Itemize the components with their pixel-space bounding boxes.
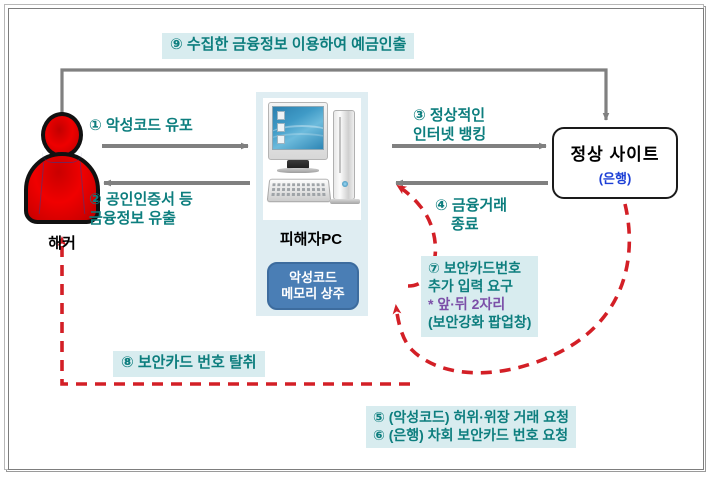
desktop-icon-2 xyxy=(277,123,285,132)
tower-foot xyxy=(330,199,360,204)
keyboard-row-2 xyxy=(272,188,326,191)
step-7-line-1: ⑦ 보안카드번호 xyxy=(428,260,531,278)
monitor-icon xyxy=(268,102,328,160)
step-6-line: ⑥ (은행) 차회 보안카드 번호 요청 xyxy=(373,427,569,445)
step-3-line-1: ③ 정상적인 xyxy=(413,107,486,126)
step-4-line-2: 종료 xyxy=(435,216,507,235)
step-4-line-1: ④ 금융거래 xyxy=(435,197,507,216)
step-9-label: ⑨ 수집한 금융정보 이용하여 예금인출 xyxy=(162,33,414,59)
step-3-line-2: 인터넷 뱅킹 xyxy=(413,126,486,145)
step-7-label: ⑦ 보안카드번호 추가 입력 요구 * 앞·뒤 2자리 (보안강화 팝업창) xyxy=(421,256,538,337)
malware-memory-box: 악성코드 메모리 상주 xyxy=(267,262,359,310)
hacker-collar xyxy=(42,152,82,163)
step-1-label: ① 악성코드 유포 xyxy=(86,116,196,137)
bank-node: 정상 사이트 (은행) xyxy=(552,127,678,199)
victim-pc-label: 피해자PC xyxy=(258,228,364,249)
step-8-label: ⑧ 보안카드 번호 탈취 xyxy=(113,351,265,377)
bank-subtitle: (은행) xyxy=(599,168,632,187)
malware-line-1: 악성코드 xyxy=(289,270,337,286)
desktop-icon-1 xyxy=(277,111,285,120)
malware-line-2: 메모리 상주 xyxy=(281,286,344,302)
monitor-base xyxy=(277,168,319,173)
step-4-label: ④ 금융거래 종료 xyxy=(432,196,510,236)
desktop-icon-3 xyxy=(277,135,285,144)
tower-vent xyxy=(339,117,341,173)
step-7-line-2: 추가 입력 요구 xyxy=(428,278,531,296)
diagram-canvas: 해커 피해자PC 악성코드 메모리 상주 xyxy=(0,0,714,481)
monitor-screen xyxy=(272,106,324,150)
step-5-6-label: ⑤ (악성코드) 허위·위장 거래 요청 ⑥ (은행) 차회 보안카드 번호 요… xyxy=(366,406,576,448)
step-7-line-3: * 앞·뒤 2자리 xyxy=(428,296,531,314)
bank-title: 정상 사이트 xyxy=(571,140,660,165)
victim-pc-image xyxy=(263,98,361,220)
step-2-line-1: ② 공인인증서 등 xyxy=(89,191,193,210)
tower-power-led xyxy=(342,181,348,187)
keyboard-row-1 xyxy=(272,183,325,186)
pc-tower-icon xyxy=(333,110,355,200)
step-7-line-4: (보안강화 팝업창) xyxy=(428,314,531,332)
hacker-label: 해커 xyxy=(22,232,102,253)
step-3-label: ③ 정상적인 인터넷 뱅킹 xyxy=(410,106,489,146)
step-2-label: ② 공인인증서 등 금융정보 유출 xyxy=(86,190,196,230)
keyboard-icon xyxy=(267,179,332,203)
step-5-line: ⑤ (악성코드) 허위·위장 거래 요청 xyxy=(373,409,569,427)
step-2-line-2: 금융정보 유출 xyxy=(89,210,193,229)
keyboard-row-3 xyxy=(271,193,326,196)
